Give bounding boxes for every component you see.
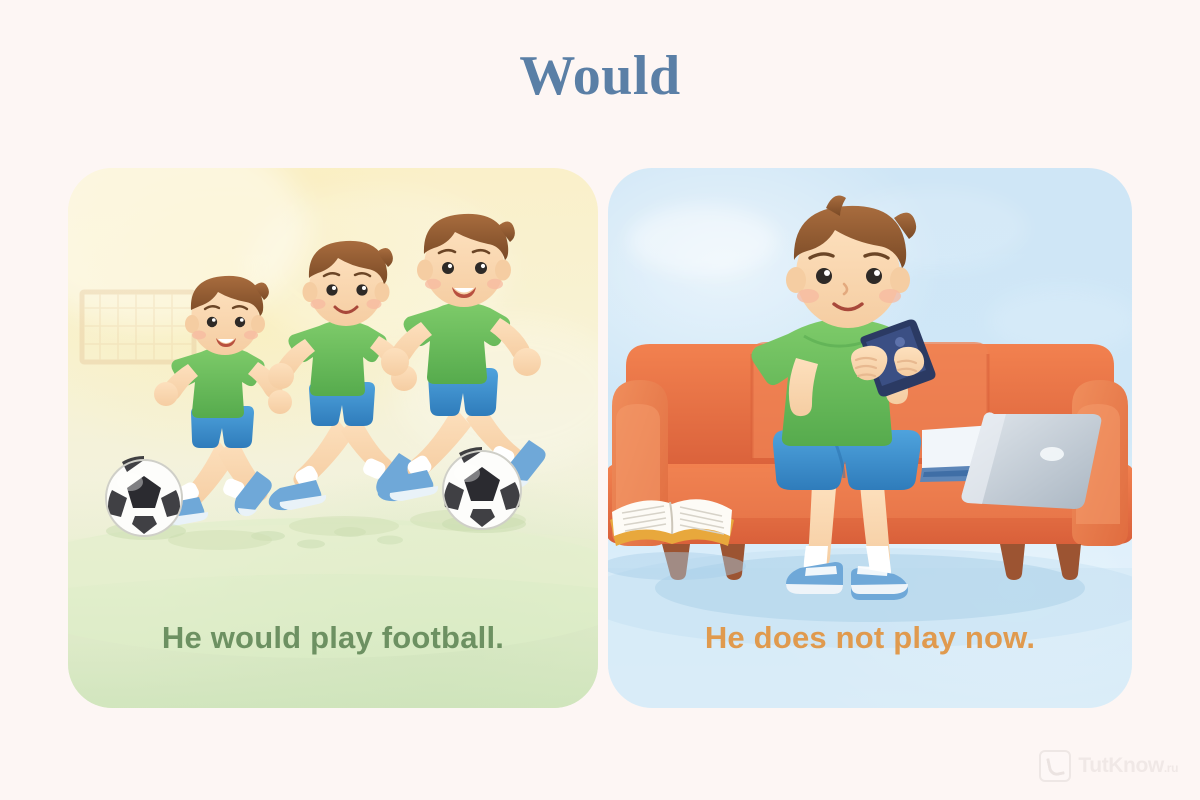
watermark-text: TutKnow.ru bbox=[1078, 754, 1178, 778]
watermark: TutKnow.ru bbox=[1039, 750, 1178, 782]
open-book-icon bbox=[608, 499, 746, 580]
goal-post-icon bbox=[82, 292, 194, 362]
right-panel-caption: He does not play now. bbox=[608, 620, 1132, 656]
present-negative-panel: He does not play now. bbox=[608, 168, 1132, 708]
watermark-tld: .ru bbox=[1164, 761, 1178, 775]
past-habit-panel: He would play football. bbox=[68, 168, 598, 708]
page-title: Would bbox=[0, 48, 1200, 104]
left-panel-caption: He would play football. bbox=[68, 620, 598, 656]
watermark-brand: TutKnow bbox=[1078, 754, 1163, 777]
tutknow-logo-icon bbox=[1039, 750, 1071, 782]
